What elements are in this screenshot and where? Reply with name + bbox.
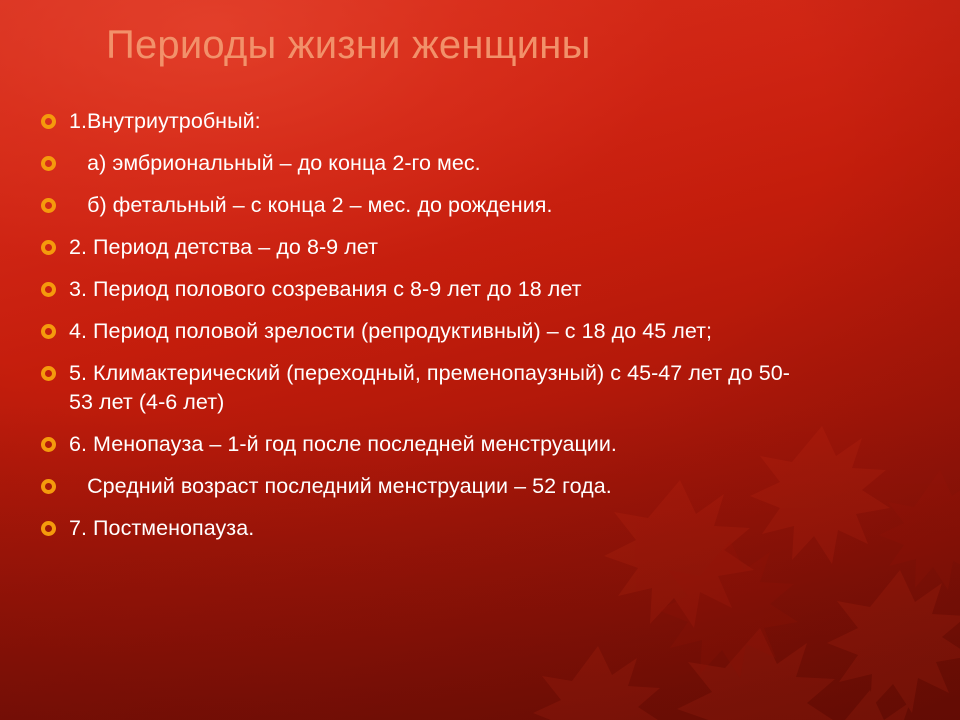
list-item-label: Средний возраст последний менструации – …	[69, 472, 854, 501]
list-item-label: 3. Период полового созревания с 8-9 лет …	[69, 275, 854, 304]
ring-bullet-icon	[41, 324, 56, 339]
list-item: Средний возраст последний менструации – …	[24, 472, 854, 501]
list-item-label: 2. Период детства – до 8-9 лет	[69, 233, 854, 262]
list-item-label: 1.Внутриутробный:	[69, 107, 854, 136]
list-item-label: 6. Менопауза – 1-й год после последней м…	[69, 430, 854, 459]
ring-bullet-icon	[41, 366, 56, 381]
ring-bullet-icon	[41, 114, 56, 129]
ring-bullet-icon	[41, 437, 56, 452]
list-item: 1.Внутриутробный:	[24, 107, 854, 136]
slide-title: Периоды жизни женщины	[106, 20, 886, 70]
list-item: 7. Постменопауза.	[24, 514, 854, 543]
list-item: 4. Период половой зрелости (репродуктивн…	[24, 317, 854, 346]
list-item: б) фетальный – с конца 2 – мес. до рожде…	[24, 191, 854, 220]
list-item-label: 7. Постменопауза.	[69, 514, 854, 543]
ring-bullet-icon	[41, 156, 56, 171]
list-item-label: а) эмбриональный – до конца 2-го мес.	[69, 149, 854, 178]
ring-bullet-icon	[41, 479, 56, 494]
list-item: 6. Менопауза – 1-й год после последней м…	[24, 430, 854, 459]
list-item: 5. Климактерический (переходный, премено…	[24, 359, 854, 417]
ring-bullet-icon	[41, 240, 56, 255]
list-item: 2. Период детства – до 8-9 лет	[24, 233, 854, 262]
ring-bullet-icon	[41, 282, 56, 297]
list-item: 3. Период полового созревания с 8-9 лет …	[24, 275, 854, 304]
list-item: а) эмбриональный – до конца 2-го мес.	[24, 149, 854, 178]
bullet-list: 1.Внутриутробный: а) эмбриональный – до …	[24, 107, 854, 556]
ring-bullet-icon	[41, 521, 56, 536]
presentation-slide: Периоды жизни женщины 1.Внутриутробный: …	[0, 0, 960, 720]
list-item-label: 5. Климактерический (переходный, премено…	[69, 359, 805, 417]
ring-bullet-icon	[41, 198, 56, 213]
list-item-label: 4. Период половой зрелости (репродуктивн…	[69, 317, 805, 346]
list-item-label: б) фетальный – с конца 2 – мес. до рожде…	[69, 191, 854, 220]
